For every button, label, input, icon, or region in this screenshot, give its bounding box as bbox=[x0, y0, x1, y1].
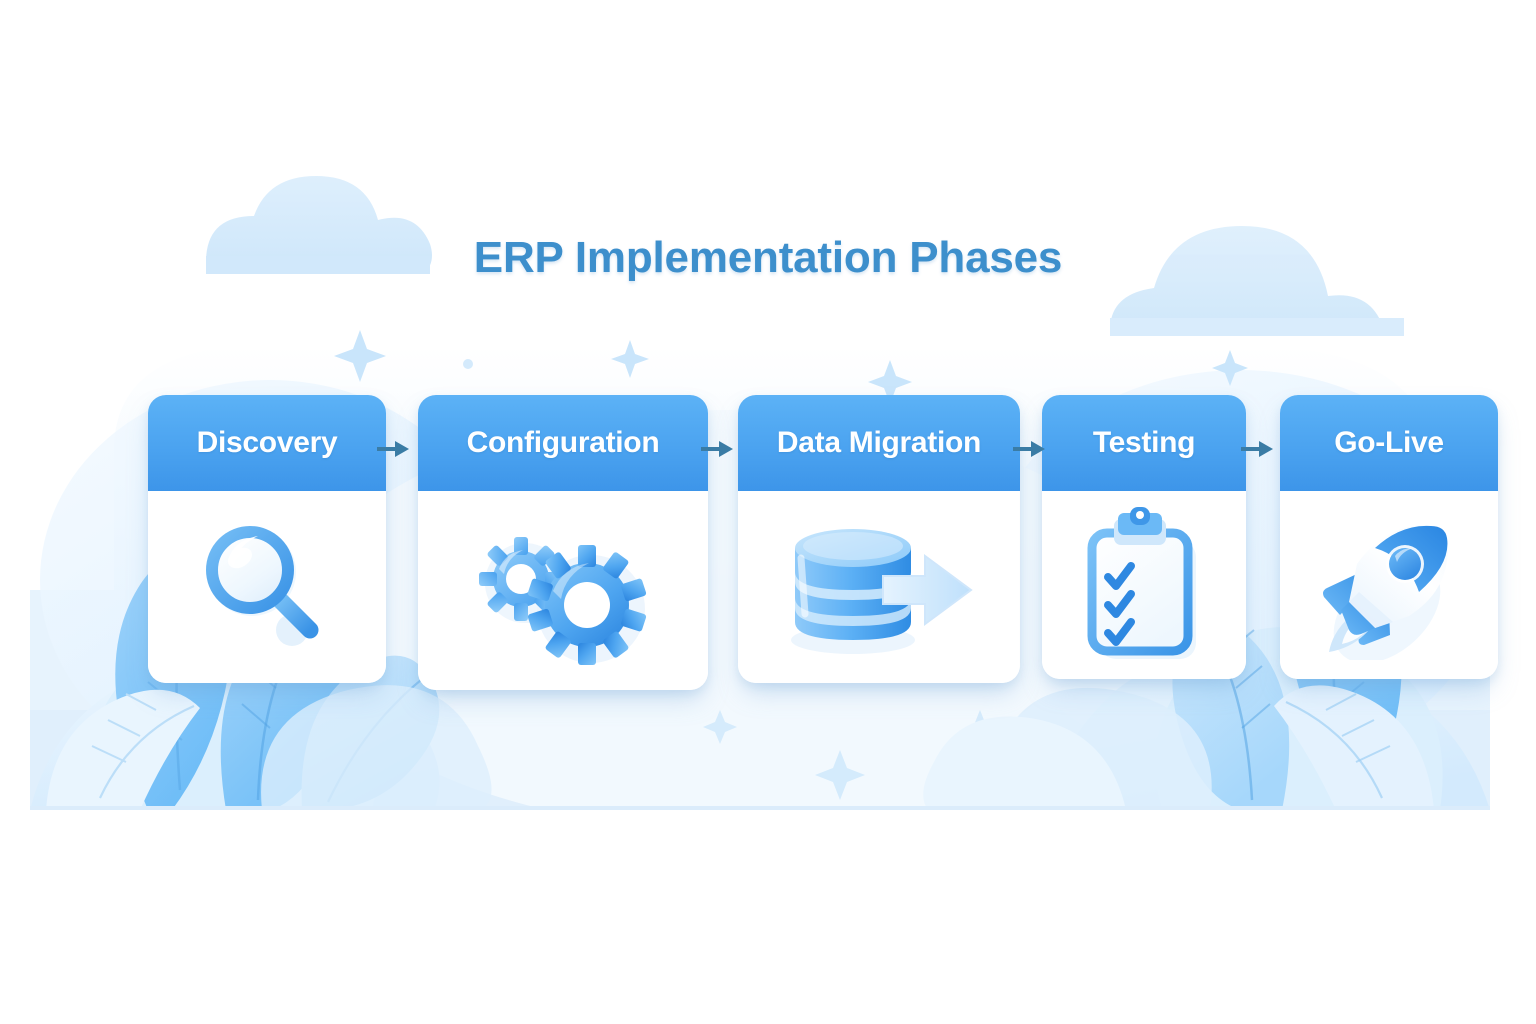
clipboard-checklist-icon bbox=[1074, 505, 1214, 665]
arrow-right-icon bbox=[1012, 438, 1046, 460]
phase-header-discovery: Discovery bbox=[148, 395, 386, 491]
database-arrow-icon bbox=[779, 512, 979, 662]
phase-header-testing: Testing bbox=[1042, 395, 1246, 491]
phase-body-testing bbox=[1042, 491, 1246, 679]
phase-card-data-migration[interactable]: Data Migration bbox=[738, 395, 1020, 683]
phase-label-testing: Testing bbox=[1093, 426, 1195, 460]
page-title: ERP Implementation Phases bbox=[0, 233, 1536, 283]
phase-body-configuration bbox=[418, 491, 708, 690]
phase-header-go-live: Go-Live bbox=[1280, 395, 1498, 491]
phase-label-discovery: Discovery bbox=[197, 426, 338, 460]
phase-body-go-live bbox=[1280, 491, 1498, 679]
arrow-right-icon bbox=[700, 438, 734, 460]
gears-icon bbox=[463, 511, 663, 671]
phase-card-testing[interactable]: Testing bbox=[1042, 395, 1246, 679]
phase-body-discovery bbox=[148, 491, 386, 683]
phase-card-discovery[interactable]: Discovery bbox=[148, 395, 386, 683]
phase-header-configuration: Configuration bbox=[418, 395, 708, 491]
phase-label-data-migration: Data Migration bbox=[777, 426, 981, 460]
rocket-icon bbox=[1309, 510, 1469, 660]
phase-card-configuration[interactable]: Configuration bbox=[418, 395, 708, 690]
phase-header-data-migration: Data Migration bbox=[738, 395, 1020, 491]
illustration-canvas: ERP Implementation Phases Discovery bbox=[0, 0, 1536, 1024]
phase-card-go-live[interactable]: Go-Live bbox=[1280, 395, 1498, 679]
magnifying-glass-icon bbox=[192, 512, 342, 662]
arrow-right-icon bbox=[1240, 438, 1274, 460]
phase-body-data-migration bbox=[738, 491, 1020, 683]
phase-label-go-live: Go-Live bbox=[1334, 426, 1444, 460]
phase-label-configuration: Configuration bbox=[467, 426, 660, 460]
arrow-right-icon bbox=[376, 438, 410, 460]
